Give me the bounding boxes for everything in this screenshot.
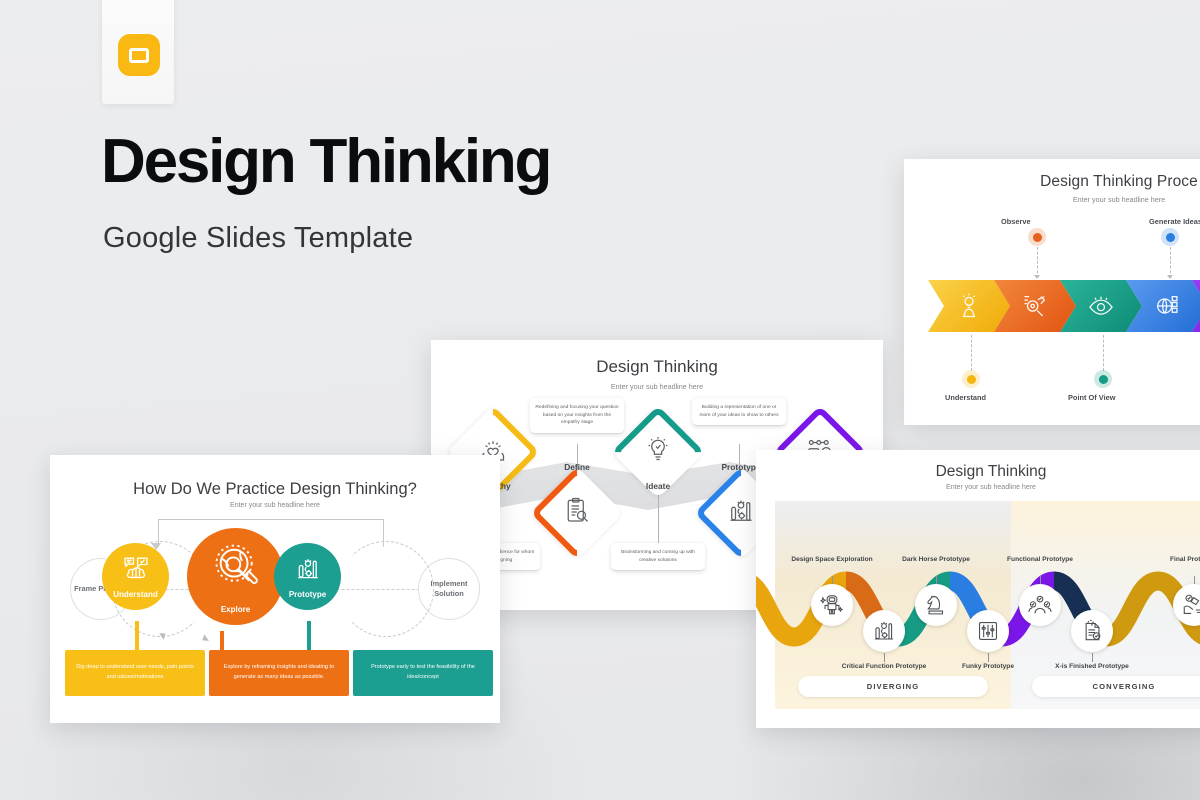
- chat-check-brain-icon: [121, 554, 151, 582]
- prototype-tools-icon: [293, 555, 323, 583]
- circle-understand[interactable]: Understand: [102, 543, 169, 610]
- tick-x-is-finished-prototype: [1092, 653, 1093, 662]
- prototype-tools-icon: [726, 496, 756, 526]
- stem-arrow-observe: [1034, 275, 1040, 279]
- dashed-arc-right: [338, 541, 434, 637]
- stem-arrow-generate-ideas: [1167, 275, 1173, 279]
- stem-observe: [1037, 247, 1038, 278]
- chevron-label-observe: Observe: [1001, 217, 1031, 226]
- chevron-step-5[interactable]: [1192, 280, 1200, 332]
- slide-design-thinking-process[interactable]: Design Thinking Proce Enter your sub hea…: [904, 159, 1200, 425]
- tick-critical-function-prototype: [884, 653, 885, 662]
- stem-generate-ideas: [1170, 247, 1171, 278]
- slide-prototype-wave[interactable]: Design Thinking Enter your sub headline …: [756, 450, 1200, 728]
- bubble-critical-function-prototype[interactable]: [863, 610, 905, 652]
- pill-converging[interactable]: CONVERGING: [1032, 676, 1200, 697]
- diamond-label-define: Define: [526, 462, 628, 472]
- label-x-is-finished-prototype: X-is Finished Prototype: [1048, 663, 1136, 672]
- textbox-understand: Dig deep to understand user needs, pain …: [65, 650, 205, 696]
- tick-functional-prototype: [1040, 576, 1041, 584]
- node-generate-ideas: [1161, 228, 1179, 246]
- circle-prototype[interactable]: Prototype: [274, 543, 341, 610]
- poster-canvas: Design Thinking Google Slides Template D…: [0, 0, 1200, 800]
- team-approval-icon: [1027, 592, 1053, 618]
- label-dark-horse-prototype: Dark Horse Prototype: [892, 556, 980, 565]
- diamond-ideate[interactable]: Ideate: [625, 419, 691, 485]
- lightbulb-check-icon: [643, 435, 673, 465]
- circle-label-explore: Explore: [187, 605, 284, 614]
- circle-label-understand: Understand: [102, 590, 169, 599]
- chess-knight-icon: [923, 592, 949, 618]
- eye-icon: [1086, 292, 1116, 320]
- arc-arrow-left: [200, 634, 209, 643]
- target-magnifier-icon: [1020, 292, 1050, 320]
- handoff-icon: [1181, 592, 1200, 618]
- google-slides-icon: [118, 34, 160, 76]
- slide-subtitle: Enter your sub headline here: [50, 502, 500, 509]
- node-understand: [962, 370, 980, 388]
- logo-card: [102, 0, 174, 104]
- page-title: Design Thinking: [101, 131, 550, 193]
- textbox-prototype: Prototype early to test the feasibility …: [353, 650, 493, 696]
- bubble-functional-prototype[interactable]: [1019, 584, 1061, 626]
- slide-title: Design Thinking: [431, 357, 883, 377]
- circle-explore[interactable]: Explore: [187, 528, 284, 625]
- node-observe: [1028, 228, 1046, 246]
- bubble-x-is-finished-prototype[interactable]: [1071, 610, 1113, 652]
- globe-ideas-icon: [1152, 292, 1182, 320]
- document-check-icon: [1079, 618, 1105, 644]
- node-point-of-view: [1094, 370, 1112, 388]
- bubble-funky-prototype[interactable]: [967, 610, 1009, 652]
- pill-diverging[interactable]: DIVERGING: [798, 676, 988, 697]
- diamond-label-ideate: Ideate: [607, 481, 709, 491]
- diamond-define[interactable]: Define: [544, 480, 610, 546]
- label-critical-function-prototype: Critical Function Prototype: [840, 663, 928, 672]
- prototype-tools-icon: [871, 618, 897, 644]
- circle-label-prototype: Prototype: [274, 590, 341, 599]
- slide-subtitle: Enter your sub headline here: [431, 382, 883, 391]
- tick-funky-prototype: [988, 653, 989, 662]
- slide-practice-design-thinking[interactable]: How Do We Practice Design Thinking? Ente…: [50, 455, 500, 723]
- lightbulb-person-icon: [954, 292, 984, 320]
- label-final-prototype: Final Prototype: [1150, 556, 1200, 565]
- slide-subtitle: Enter your sub headline here: [904, 195, 1200, 204]
- callout-ideate: Brainstorming and coming up with creativ…: [611, 543, 705, 571]
- slide-title: Design Thinking: [756, 463, 1200, 481]
- stem-ideate: [658, 492, 659, 543]
- bubble-design-space-exploration[interactable]: [811, 584, 853, 626]
- callout-prototype: Building a representation of one or more…: [692, 398, 786, 426]
- sliders-icon: [975, 618, 1001, 644]
- chevron-label-understand: Understand: [945, 393, 986, 402]
- label-funky-prototype: Funky Prototype: [944, 663, 1032, 672]
- tick-final-prototype: [1194, 576, 1195, 584]
- callout-define: Redefining and focusing your question ba…: [530, 398, 624, 434]
- chevron-label-generate-ideas: Generate Ideas: [1149, 217, 1200, 226]
- label-functional-prototype: Functional Prototype: [996, 556, 1084, 565]
- tick-dark-horse-prototype: [936, 576, 937, 584]
- slide-subtitle: Enter your sub headline here: [756, 484, 1200, 491]
- page-subtitle: Google Slides Template: [103, 222, 413, 255]
- stem-point-of-view: [1103, 335, 1104, 371]
- tick-design-space-exploration: [832, 576, 833, 584]
- clipboard-search-icon: [562, 496, 592, 526]
- chevron-label-point-of-view: Point Of View: [1068, 393, 1116, 402]
- chevron-step-4[interactable]: [1126, 280, 1200, 332]
- stem-understand: [971, 335, 972, 371]
- globe-magnifier-icon: [212, 544, 260, 590]
- label-design-space-exploration: Design Space Exploration: [788, 556, 876, 565]
- textbox-explore: Explore by reframing insights and ideati…: [209, 650, 349, 696]
- slide-title: How Do We Practice Design Thinking?: [50, 480, 500, 499]
- astronaut-icon: [819, 592, 845, 618]
- slide-title: Design Thinking Proce: [904, 173, 1200, 191]
- bubble-dark-horse-prototype[interactable]: [915, 584, 957, 626]
